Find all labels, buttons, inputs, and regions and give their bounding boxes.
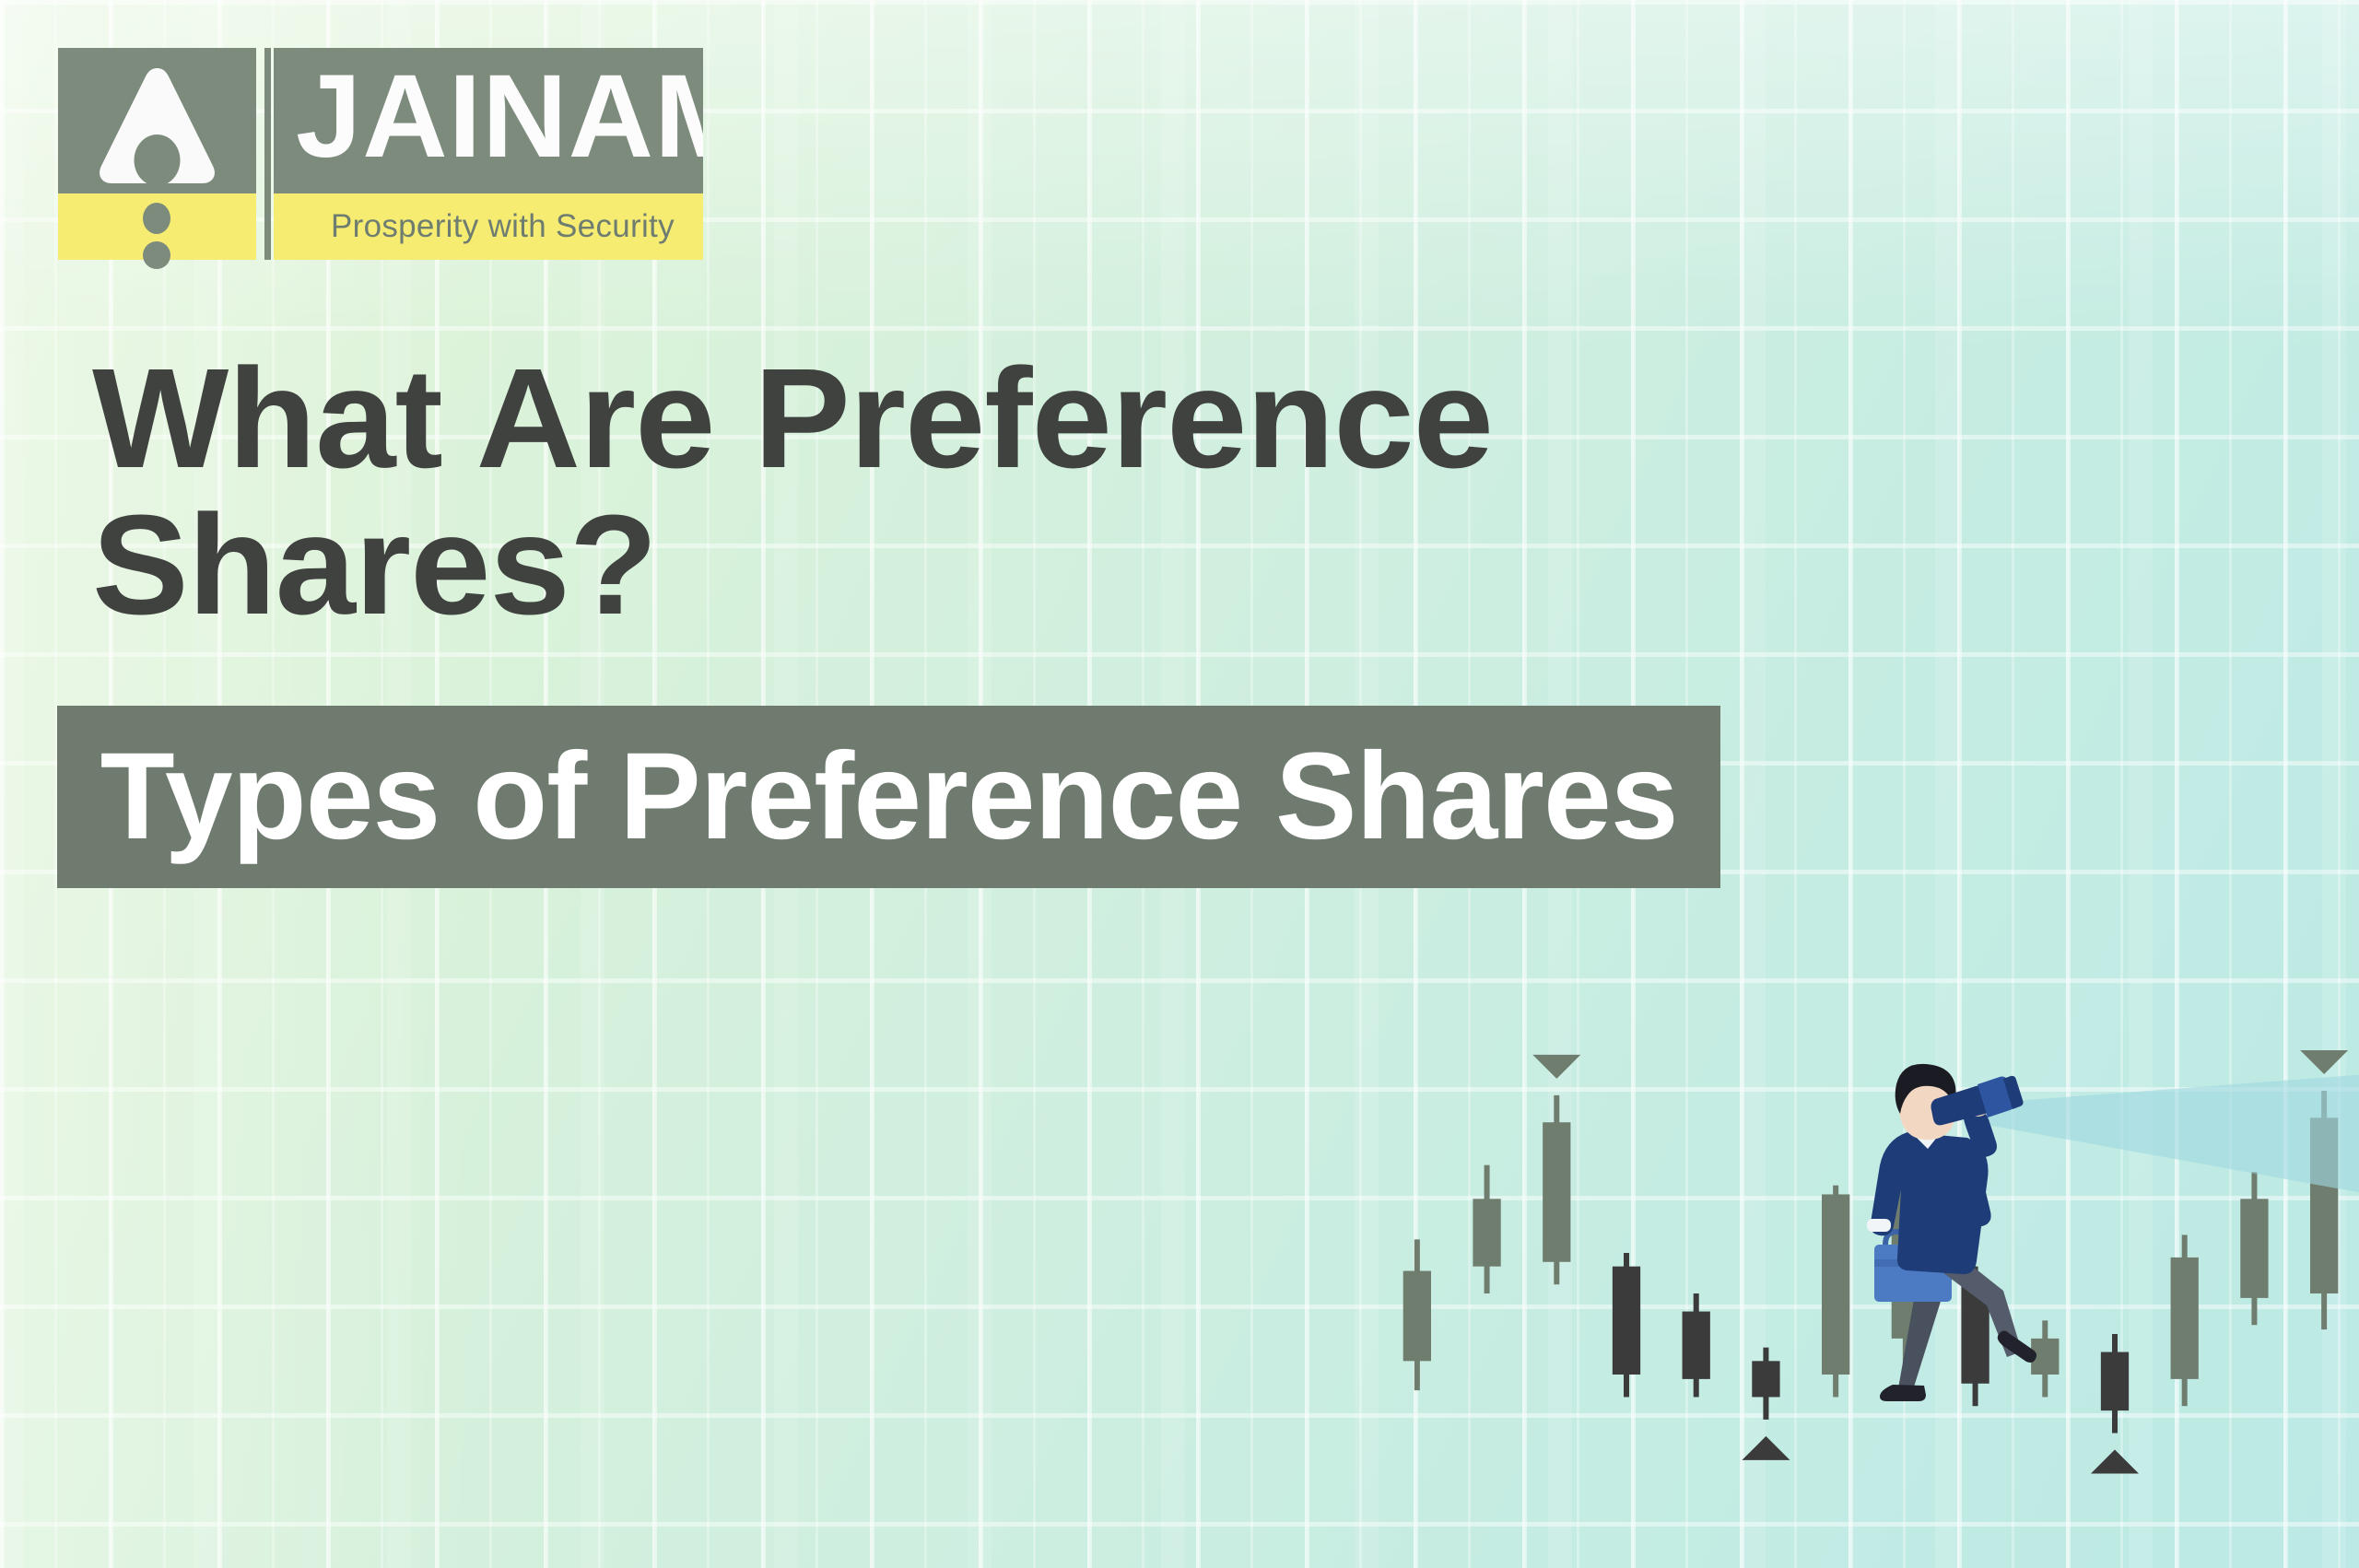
- logo-accent-band: [58, 193, 256, 260]
- headline-text: What Are Preference Shares?: [92, 345, 1878, 638]
- subtitle-highlight-band: Types of Preference Shares: [57, 706, 1720, 888]
- triangle-with-dot-icon: [58, 48, 256, 193]
- candle-body: [2171, 1258, 2199, 1379]
- logo-dot-lower: [143, 241, 170, 269]
- candle-body: [1543, 1122, 1570, 1262]
- logo-tagline-background: Prosperity with Security: [274, 193, 703, 260]
- triangle-down-marker-icon: [2300, 1050, 2348, 1074]
- logo-tagline: Prosperity with Security: [331, 193, 675, 260]
- candle-body: [2101, 1352, 2129, 1411]
- candle-body: [1683, 1312, 1710, 1379]
- logo-divider: [264, 48, 271, 260]
- candle-body: [1961, 1284, 1989, 1384]
- candle-body: [2310, 1117, 2338, 1293]
- logo-name-background: JAINAM: [274, 48, 703, 193]
- triangle-up-marker-icon: [1742, 1436, 1790, 1460]
- banner-canvas: JAINAM Prosperity with Security What Are…: [0, 0, 2359, 1568]
- page-title: What Are Preference Shares?: [92, 345, 1843, 638]
- candle-body: [1403, 1271, 1431, 1362]
- candle-body: [1752, 1361, 1779, 1397]
- candle-body: [2240, 1199, 2268, 1298]
- candle-body: [1473, 1199, 1500, 1266]
- logo-brand-name: JAINAM: [296, 48, 703, 190]
- subtitle-text: Types of Preference Shares: [100, 735, 1678, 859]
- candle-body: [2031, 1339, 2059, 1375]
- triangle-down-marker-icon: [1532, 1055, 1580, 1079]
- triangle-up-marker-icon: [2091, 1450, 2139, 1474]
- candle-body: [1613, 1267, 1640, 1375]
- jainam-logo[interactable]: JAINAM Prosperity with Security: [58, 48, 703, 260]
- candle-body: [1892, 1153, 1919, 1338]
- candle-body: [1822, 1194, 1849, 1375]
- candlestick-chart: [1382, 1059, 2359, 1568]
- logo-dot-upper: [143, 203, 170, 234]
